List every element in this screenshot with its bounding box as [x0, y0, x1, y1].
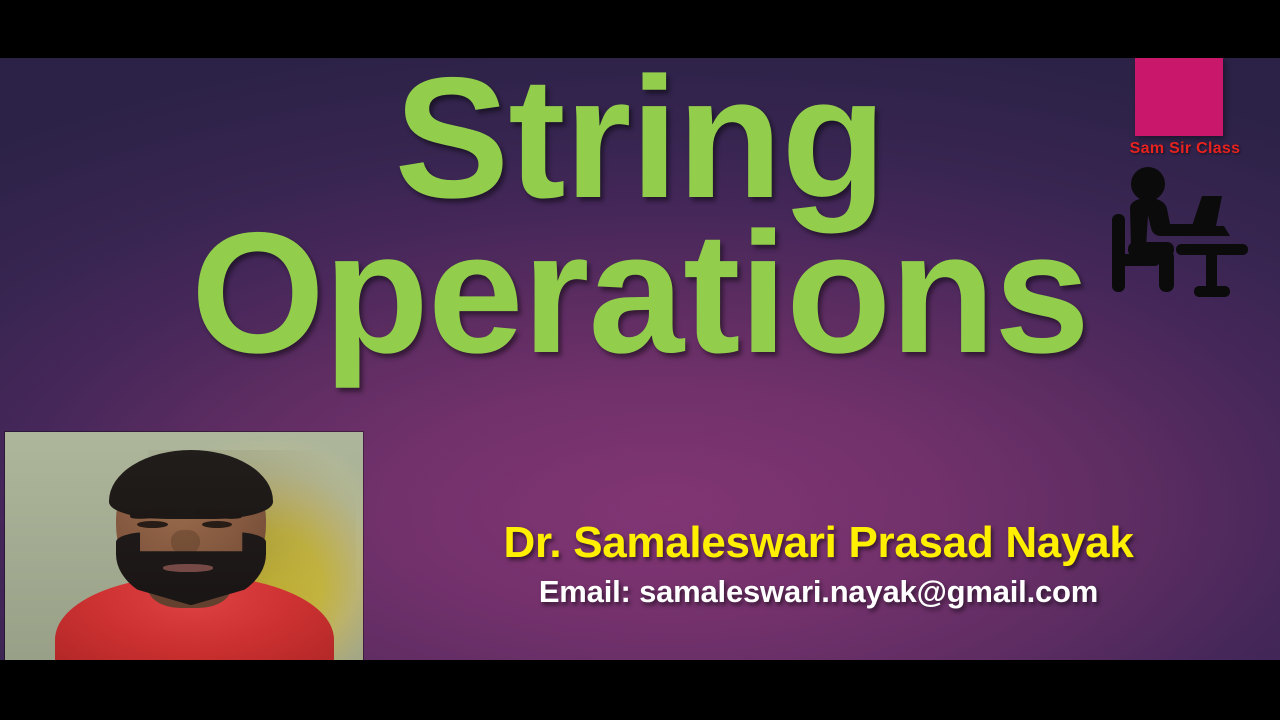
- video-frame: String Operations Sam Sir Class: [0, 0, 1280, 720]
- page-title: String Operations: [0, 58, 1280, 377]
- presenter-photo: [5, 432, 363, 660]
- presenter-name: Dr. Samaleswari Prasad Nayak: [365, 518, 1272, 568]
- brand-name: Sam Sir Class: [1100, 140, 1270, 158]
- person-at-desk-with-laptop-icon: [1106, 162, 1266, 312]
- logo-square-accent: [1135, 58, 1223, 136]
- bottom-letterbox-bar: [0, 660, 1280, 720]
- top-letterbox-bar: [0, 0, 1280, 58]
- title-line-2: Operations: [0, 209, 1280, 378]
- presenter-details: Dr. Samaleswari Prasad Nayak Email: sama…: [365, 518, 1272, 610]
- presentation-slide: String Operations Sam Sir Class: [0, 58, 1280, 660]
- brand-logo: Sam Sir Class: [1100, 58, 1270, 318]
- photo-mouth: [163, 564, 213, 572]
- presenter-email: Email: samaleswari.nayak@gmail.com: [365, 574, 1272, 610]
